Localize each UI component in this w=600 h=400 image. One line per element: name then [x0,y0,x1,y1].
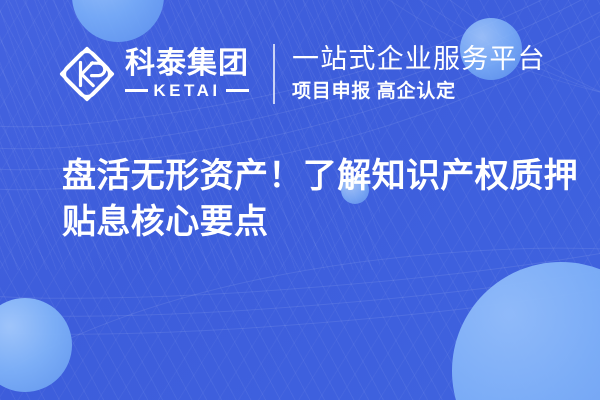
banner-header: 科泰集团 KETAI 一站式企业服务平台 项目申报 高企认定 [0,38,600,110]
banner-title-line-1: 盘活无形资产！了解知识产权质押 [62,153,562,199]
brand-name-en: KETAI [153,82,220,99]
ketai-diamond-kp-logo-icon [58,45,116,103]
banner-title: 盘活无形资产！了解知识产权质押 贴息核心要点 [62,153,562,245]
brand-dash-right [226,89,249,92]
brand-name-cn: 科泰集团 [125,49,249,80]
promo-banner: 科泰集团 KETAI 一站式企业服务平台 项目申报 高企认定 盘活无形资产！了解… [0,0,600,400]
decor-circle-top [72,0,164,42]
decor-circle-bottom-left [0,298,72,392]
banner-title-line-2: 贴息核心要点 [62,199,562,245]
slogan-block: 一站式企业服务平台 项目申报 高企认定 [292,44,546,105]
decor-circle-bottom-right [452,262,600,400]
brand-text: 科泰集团 KETAI [125,49,249,99]
brand-name-en-row: KETAI [125,82,249,99]
slogan-main: 一站式企业服务平台 [292,44,546,75]
brand-lockup: 科泰集团 KETAI [58,45,249,103]
slogan-sub: 项目申报 高企认定 [292,80,546,105]
header-divider [273,44,275,104]
brand-dash-left [125,89,148,92]
